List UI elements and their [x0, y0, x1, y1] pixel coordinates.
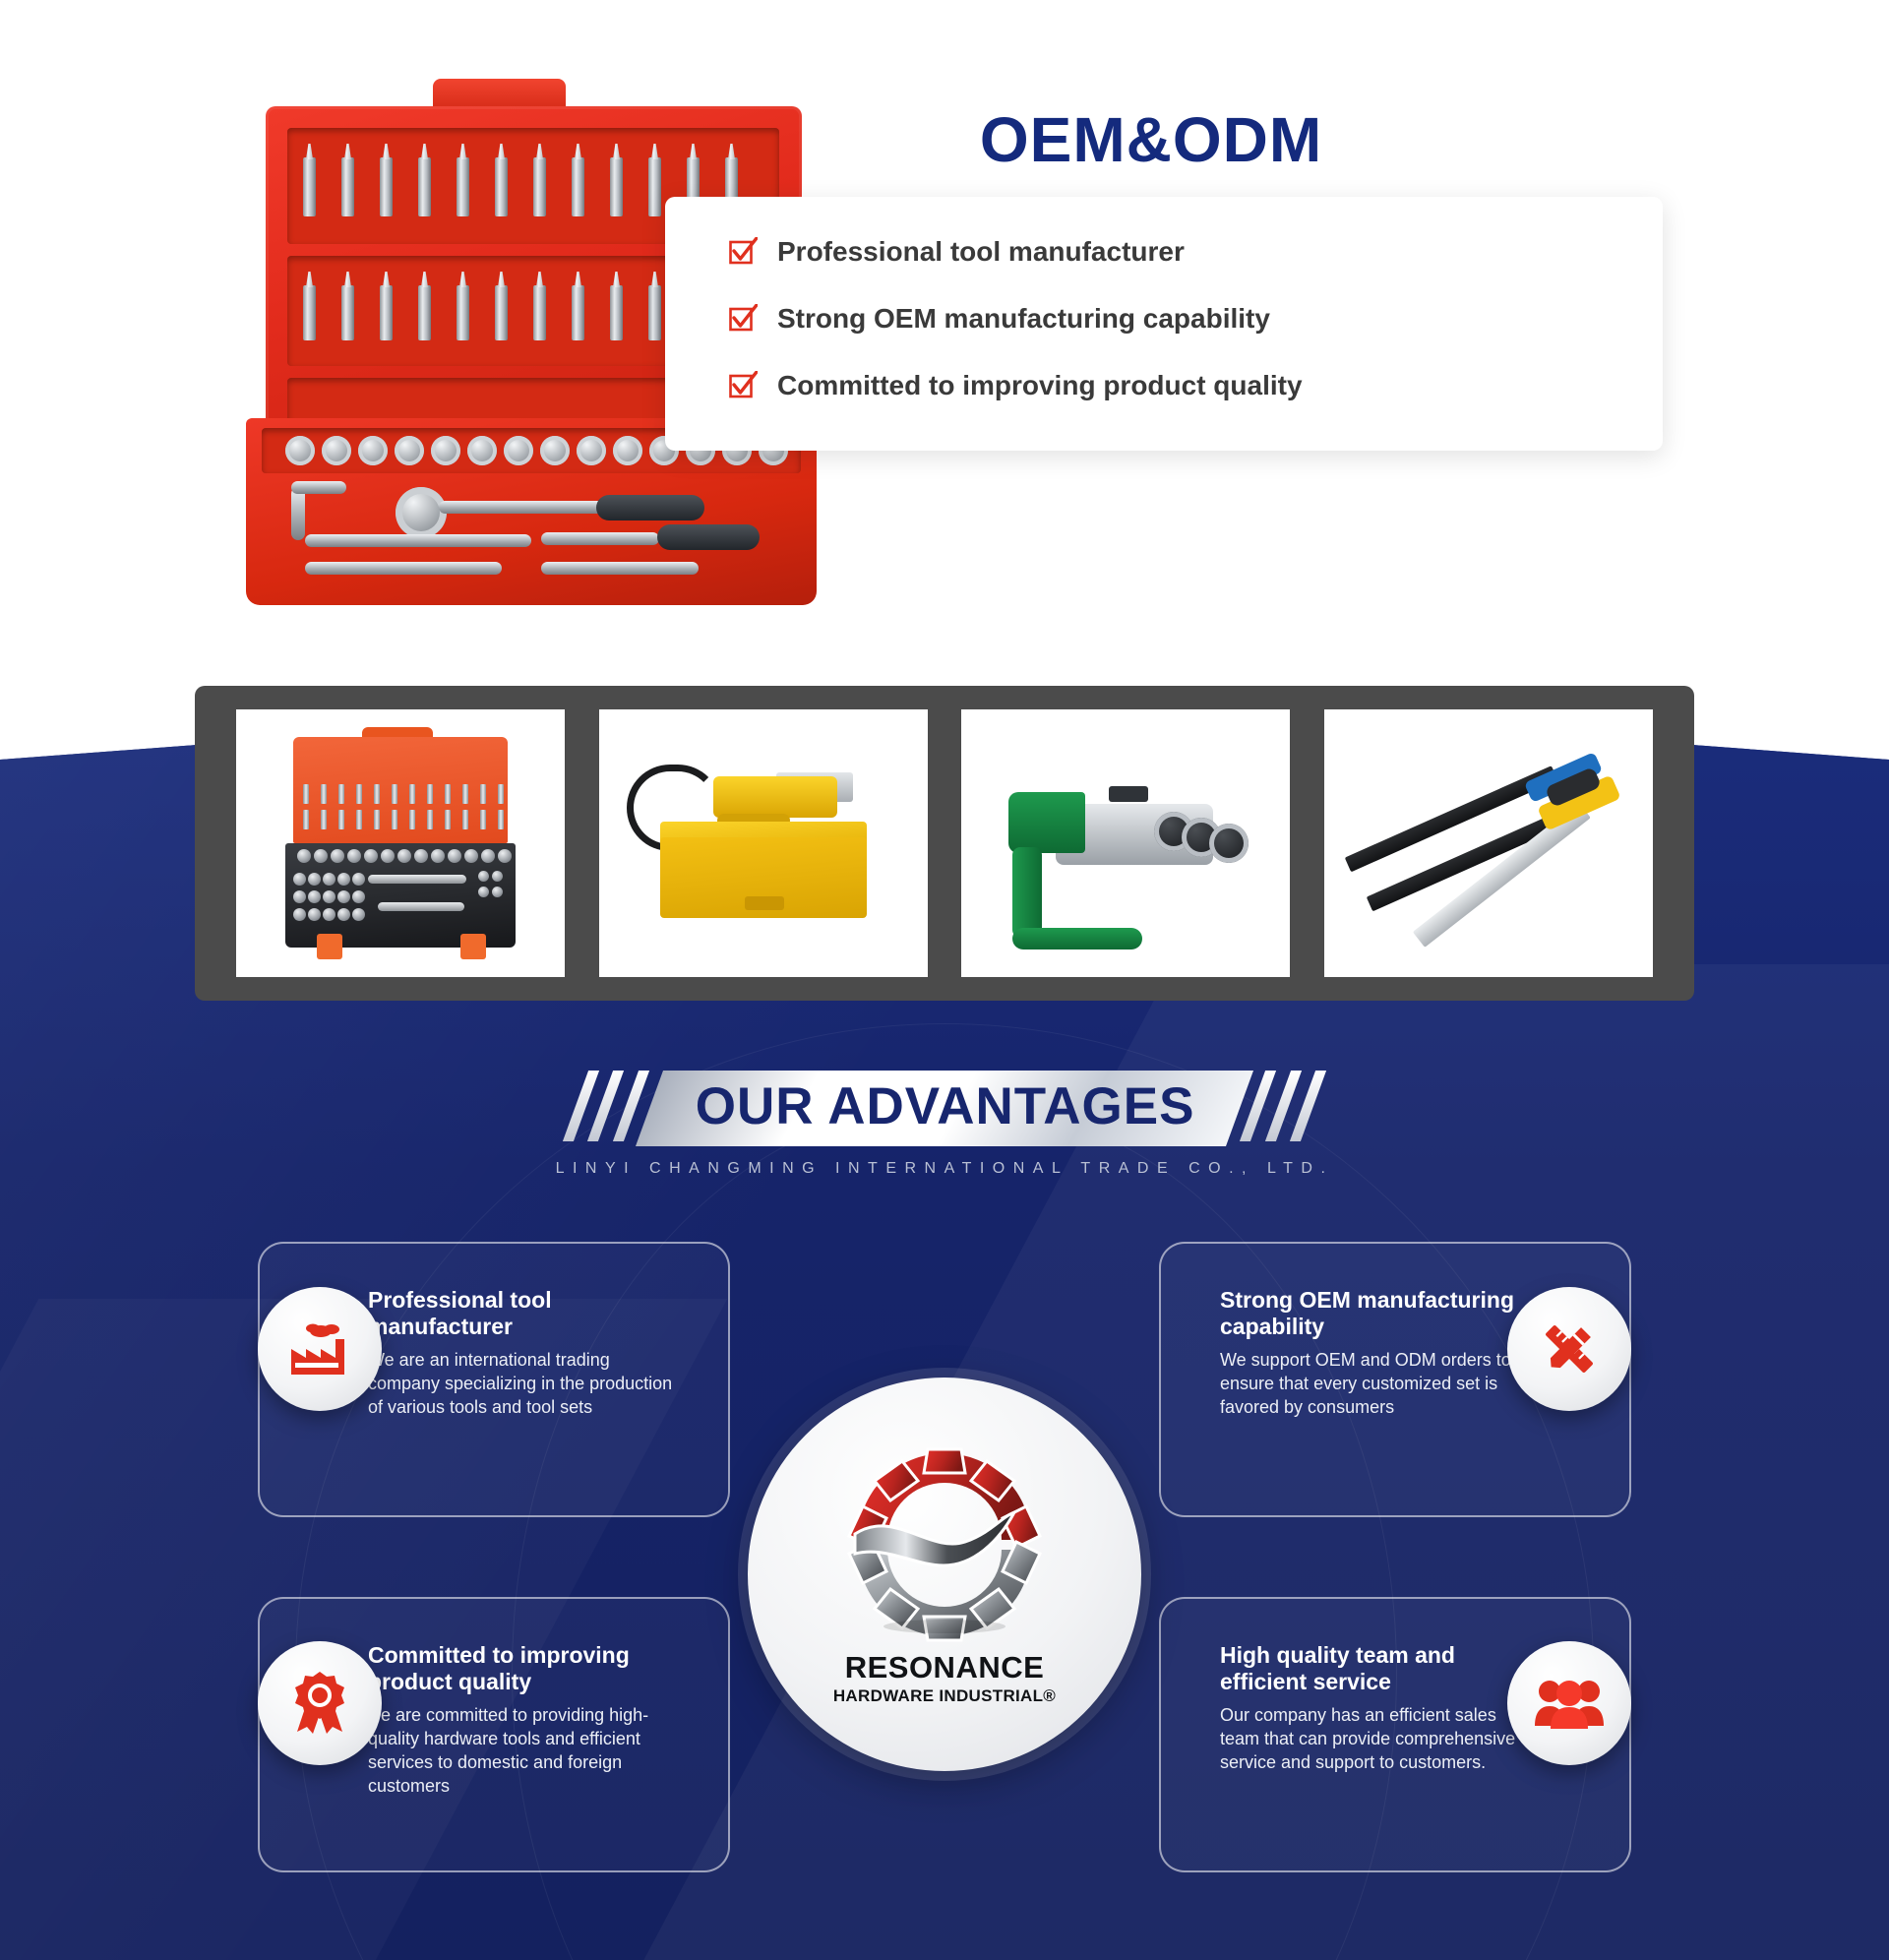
bit-piece [338, 784, 344, 804]
ruler-pencil-icon-badge [1507, 1287, 1631, 1411]
screwdriver-bit [572, 285, 584, 340]
l-key-horizontal [291, 481, 346, 494]
bit-piece [427, 784, 433, 804]
company-name-subtitle: LINYI CHANGMING INTERNATIONAL TRADE CO.,… [0, 1160, 1889, 1178]
bit-piece [427, 810, 433, 829]
extension-bar-3 [541, 532, 659, 545]
bit-piece [409, 784, 415, 804]
screwdriver-bit [303, 285, 316, 340]
logo-tagline: HARDWARE INDUSTRIAL® [833, 1686, 1056, 1706]
bit-piece [338, 810, 344, 829]
bit-piece [498, 810, 504, 829]
factory-icon [287, 1319, 352, 1378]
screwdriver-bit [533, 157, 546, 216]
bit-piece [356, 784, 362, 804]
card-body: We are an international trading company … [368, 1349, 673, 1420]
advantages-ribbon: OUR ADVANTAGES [571, 1071, 1318, 1146]
feature-item-3: Committed to improving product quality [728, 370, 1663, 401]
product-gallery-strip [195, 686, 1694, 1001]
gallery-thumb-1[interactable] [236, 709, 565, 977]
bit-piece [498, 784, 504, 804]
stand-foot [1012, 928, 1142, 949]
l-key-vertical [291, 487, 305, 540]
socket [431, 436, 460, 465]
bit-piece [409, 810, 415, 829]
card-title: Professional tool manufacturer [368, 1287, 673, 1340]
bit-piece [374, 810, 380, 829]
extension-bar-1 [305, 534, 531, 547]
bit-piece [321, 810, 327, 829]
ruler-pencil-icon [1538, 1317, 1601, 1380]
award-ribbon-icon [289, 1671, 350, 1736]
bit-piece [462, 784, 468, 804]
screwdriver-bit [341, 285, 354, 340]
case-latch [745, 896, 784, 910]
socket-piece [297, 849, 311, 863]
bit-piece [392, 810, 397, 829]
ribbon-plate: OUR ADVANTAGES [636, 1071, 1253, 1146]
feature-item-2: Strong OEM manufacturing capability [728, 303, 1663, 335]
people-group-icon [1535, 1677, 1604, 1730]
socket-piece [337, 908, 350, 921]
hero-section: OEM&ODM Professional tool manufacturer S… [0, 0, 1889, 689]
ratchet-tool [378, 902, 464, 911]
screwdriver-bit [341, 157, 354, 216]
socket [467, 436, 497, 465]
spinner-handle [541, 562, 699, 575]
bit-piece [480, 810, 486, 829]
grip-handle [1012, 847, 1042, 938]
card-title: Committed to improving product quality [368, 1642, 673, 1695]
socket [322, 436, 351, 465]
socket-piece [352, 908, 365, 921]
bit-piece [303, 810, 309, 829]
ratchet-bar [439, 501, 606, 514]
screwdriver-bit [457, 285, 469, 340]
card-body: We support OEM and ODM orders to ensure … [1220, 1349, 1525, 1420]
socket [540, 436, 570, 465]
socket-piece [464, 849, 478, 863]
slash-group-right [1248, 1071, 1318, 1146]
card-title: Strong OEM manufacturing capability [1220, 1287, 1525, 1340]
card-text-block: Committed to improving product quality w… [368, 1642, 673, 1799]
green-shroud [1008, 792, 1085, 853]
screwdriver-bit [380, 157, 393, 216]
socket [504, 436, 533, 465]
company-logo: RESONANCE HARDWARE INDUSTRIAL® [748, 1378, 1141, 1771]
card-text-block: High quality team and efficient service … [1220, 1642, 1525, 1775]
screwdriver-bit [572, 157, 584, 216]
screwdriver-bit [303, 157, 316, 216]
screwdriver-grip [657, 524, 760, 550]
socket-piece [308, 890, 321, 903]
socket-piece [293, 873, 306, 886]
card-body: we are committed to providing high-quali… [368, 1704, 673, 1799]
ratchet-head [396, 487, 447, 538]
checkbox-checked-icon [728, 371, 758, 400]
extension-bar-2 [305, 562, 502, 575]
socket-piece [323, 873, 335, 886]
screwdriver-bit [648, 285, 661, 340]
features-card: Professional tool manufacturer Strong OE… [665, 197, 1663, 451]
advantages-header: OUR ADVANTAGES LINYI CHANGMING INTERNATI… [0, 1071, 1889, 1178]
logo-company-name: RESONANCE [845, 1650, 1045, 1685]
socket-piece [414, 849, 428, 863]
nozzle-3 [1209, 824, 1249, 863]
screwdriver-bit [495, 157, 508, 216]
award-ribbon-icon-badge [258, 1641, 382, 1765]
socket-piece [323, 908, 335, 921]
socket-piece [431, 849, 445, 863]
socket-piece [293, 890, 306, 903]
screwdriver-bit [648, 157, 661, 216]
screwdriver-bit [610, 285, 623, 340]
display-screen [1109, 786, 1148, 802]
welder-body [713, 776, 837, 818]
socket-piece [492, 887, 503, 897]
socket-piece [347, 849, 361, 863]
socket-piece [397, 849, 411, 863]
slash-group-left [571, 1071, 641, 1146]
socket-piece [492, 871, 503, 882]
ratchet-tool [368, 875, 466, 884]
card-text-block: Professional tool manufacturer We are an… [368, 1287, 673, 1420]
socket-piece [352, 890, 365, 903]
bit-piece [392, 784, 397, 804]
bit-piece [374, 784, 380, 804]
socket-piece [498, 849, 512, 863]
socket-piece [308, 873, 321, 886]
checkbox-checked-icon [728, 304, 758, 334]
factory-icon-badge [258, 1287, 382, 1411]
checkbox-checked-icon [728, 237, 758, 267]
page-title: OEM&ODM [689, 103, 1614, 176]
advantages-title: OUR ADVANTAGES [696, 1076, 1195, 1136]
card-body: Our company has an efficient sales team … [1220, 1704, 1525, 1775]
socket [358, 436, 388, 465]
screwdriver-bit [418, 157, 431, 216]
socket [613, 436, 642, 465]
socket-piece [478, 887, 489, 897]
screwdriver-bit [457, 157, 469, 216]
socket-piece [337, 873, 350, 886]
socket-piece [293, 908, 306, 921]
feature-item-1: Professional tool manufacturer [728, 236, 1663, 268]
card-text-block: Strong OEM manufacturing capability We s… [1220, 1287, 1525, 1420]
bit-piece [445, 810, 451, 829]
card-title: High quality team and efficient service [1220, 1642, 1525, 1695]
socket-piece [314, 849, 328, 863]
socket-piece [337, 890, 350, 903]
bit-piece [321, 784, 327, 804]
socket-piece [481, 849, 495, 863]
bit-piece [480, 784, 486, 804]
screwdriver-bit [610, 157, 623, 216]
screwdriver-bit [533, 285, 546, 340]
feature-label-1: Professional tool manufacturer [777, 236, 1185, 268]
gallery-thumb-3[interactable] [961, 709, 1290, 977]
feature-label-2: Strong OEM manufacturing capability [777, 303, 1270, 335]
socket-piece [331, 849, 344, 863]
screwdriver-bit [418, 285, 431, 340]
people-group-icon-badge [1507, 1641, 1631, 1765]
socket-piece [352, 873, 365, 886]
gallery-thumb-2[interactable] [599, 709, 928, 977]
gear-wave-logo-icon [841, 1443, 1048, 1646]
socket-piece [323, 890, 335, 903]
bit-piece [303, 784, 309, 804]
socket [395, 436, 424, 465]
case-clip-left [317, 934, 342, 959]
socket-piece [478, 871, 489, 882]
feature-label-3: Committed to improving product quality [777, 370, 1303, 401]
socket [577, 436, 606, 465]
bit-piece [462, 810, 468, 829]
bit-piece [445, 784, 451, 804]
socket [285, 436, 315, 465]
socket-piece [381, 849, 395, 863]
socket-piece [308, 908, 321, 921]
ratchet-grip [596, 495, 704, 521]
bit-piece [356, 810, 362, 829]
gallery-thumb-4[interactable] [1324, 709, 1653, 977]
socket-piece [364, 849, 378, 863]
screwdriver-bit [380, 285, 393, 340]
socket-piece [448, 849, 461, 863]
case-clip-right [460, 934, 486, 959]
screwdriver-bit [495, 285, 508, 340]
